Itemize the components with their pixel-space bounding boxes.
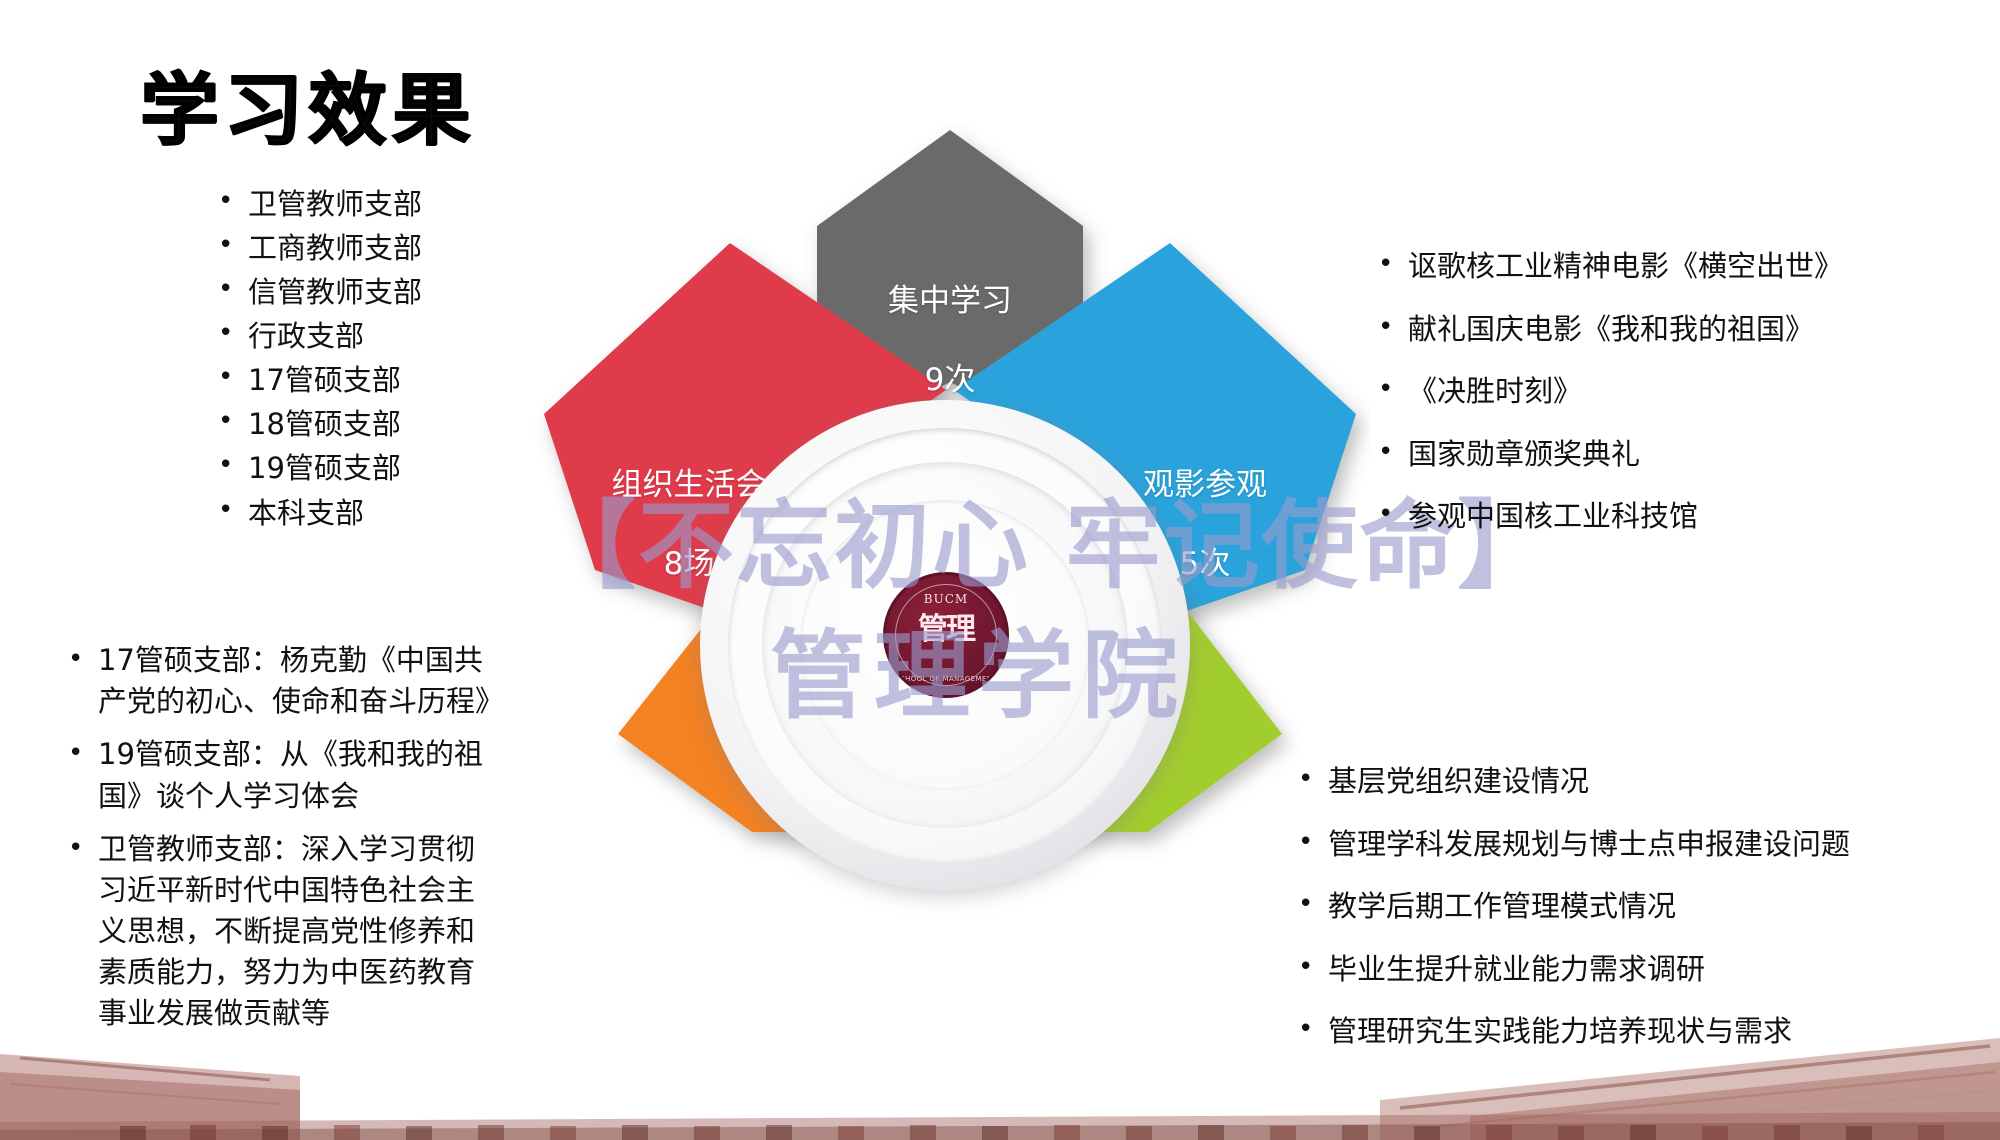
list-item: •17管硕支部：杨克勤《中国共产党的初心、使命和奋斗历程》: [60, 640, 490, 722]
list-item: •卫管教师支部: [210, 182, 640, 226]
bullet-icon: •: [210, 182, 248, 221]
bullet-icon: •: [1290, 1010, 1328, 1049]
bullet-icon: •: [1290, 823, 1328, 862]
bullet-icon: •: [210, 446, 248, 485]
list-item-label: 行政支部: [248, 314, 640, 358]
list-item-label: 19管硕支部：从《我和我的祖国》谈个人学习体会: [98, 734, 490, 816]
bullet-icon: •: [1370, 370, 1408, 409]
list-item-label: 参观中国核工业科技馆: [1408, 495, 1990, 539]
list-party-courses: •17管硕支部：杨克勤《中国共产党的初心、使命和奋斗历程》 •19管硕支部：从《…: [60, 640, 490, 1047]
list-item: •献礼国庆电影《我和我的祖国》: [1370, 308, 1990, 352]
list-item: •教学后期工作管理模式情况: [1290, 885, 2000, 929]
list-item: •讴歌核工业精神电影《横空出世》: [1370, 245, 1990, 289]
list-item-label: 信管教师支部: [248, 270, 640, 314]
list-item-label: 19管硕支部: [248, 446, 640, 490]
list-films-visits: •讴歌核工业精神电影《横空出世》 •献礼国庆电影《我和我的祖国》 •《决胜时刻》…: [1370, 245, 1990, 558]
bullet-icon: •: [210, 226, 248, 265]
list-item: •17管硕支部: [210, 358, 640, 402]
seal-center-text: 管理: [886, 615, 1006, 645]
bullet-icon: •: [60, 734, 98, 773]
bullet-icon: •: [210, 314, 248, 353]
list-item-label: 管理学科发展规划与博士点申报建设问题: [1328, 823, 2000, 867]
list-item: •行政支部: [210, 314, 640, 358]
bullet-icon: •: [1290, 760, 1328, 799]
list-item-label: 讴歌核工业精神电影《横空出世》: [1408, 245, 1990, 289]
list-item-label: 国家勋章颁奖典礼: [1408, 433, 1990, 477]
page-title: 学习效果: [140, 48, 476, 160]
list-item: •18管硕支部: [210, 402, 640, 446]
list-item: •工商教师支部: [210, 226, 640, 270]
list-item: •卫管教师支部：深入学习贯彻习近平新时代中国特色社会主义思想，不断提高党性修养和…: [60, 829, 490, 1035]
bullet-icon: •: [1370, 495, 1408, 534]
list-item-label: 17管硕支部：杨克勤《中国共产党的初心、使命和奋斗历程》: [98, 640, 490, 722]
list-item-label: 管理研究生实践能力培养现状与需求: [1328, 1010, 2000, 1054]
list-item-label: 基层党组织建设情况: [1328, 760, 2000, 804]
bullet-icon: •: [1370, 245, 1408, 284]
list-item: •19管硕支部: [210, 446, 640, 490]
list-item: •本科支部: [210, 491, 640, 535]
list-item-label: 卫管教师支部：深入学习贯彻习近平新时代中国特色社会主义思想，不断提高党性修养和素…: [98, 829, 490, 1035]
list-research-topics: •基层党组织建设情况 •管理学科发展规划与博士点申报建设问题 •教学后期工作管理…: [1290, 760, 2000, 1073]
bullet-icon: •: [60, 829, 98, 868]
seal-top-text: BUCM: [886, 592, 1006, 606]
list-item-label: 18管硕支部: [248, 402, 640, 446]
list-item-label: 献礼国庆电影《我和我的祖国》: [1408, 308, 1990, 352]
list-item-label: 教学后期工作管理模式情况: [1328, 885, 2000, 929]
seal-bottom-text: SCHOOL OF MANAGEMENT: [886, 675, 1006, 683]
bullet-icon: •: [1370, 308, 1408, 347]
list-item: •参观中国核工业科技馆: [1370, 495, 1990, 539]
center-plate: BUCM 管理 SCHOOL OF MANAGEMENT: [700, 400, 1190, 890]
list-item-label: 《决胜时刻》: [1408, 370, 1990, 414]
list-item-label: 工商教师支部: [248, 226, 640, 270]
list-item-label: 本科支部: [248, 491, 640, 535]
list-item: •管理学科发展规划与博士点申报建设问题: [1290, 823, 2000, 867]
list-party-branches: •卫管教师支部 •工商教师支部 •信管教师支部 •行政支部 •17管硕支部 •1…: [210, 182, 640, 535]
bullet-icon: •: [60, 640, 98, 679]
bullet-icon: •: [210, 358, 248, 397]
list-item: •《决胜时刻》: [1370, 370, 1990, 414]
list-item: •管理研究生实践能力培养现状与需求: [1290, 1010, 2000, 1054]
bucm-seal-icon: BUCM 管理 SCHOOL OF MANAGEMENT: [883, 572, 1009, 698]
bullet-icon: •: [210, 270, 248, 309]
bullet-icon: •: [210, 402, 248, 441]
list-item-label: 毕业生提升就业能力需求调研: [1328, 948, 2000, 992]
bullet-icon: •: [1370, 433, 1408, 472]
bullet-icon: •: [1290, 885, 1328, 924]
list-item: •毕业生提升就业能力需求调研: [1290, 948, 2000, 992]
bullet-icon: •: [1290, 948, 1328, 987]
list-item: •信管教师支部: [210, 270, 640, 314]
list-item: •基层党组织建设情况: [1290, 760, 2000, 804]
list-item: •19管硕支部：从《我和我的祖国》谈个人学习体会: [60, 734, 490, 816]
bullet-icon: •: [210, 491, 248, 530]
list-item-label: 17管硕支部: [248, 358, 640, 402]
list-item: •国家勋章颁奖典礼: [1370, 433, 1990, 477]
slide-canvas: 学习效果 集中学习 9次 观影参观 5: [0, 0, 2000, 1140]
list-item-label: 卫管教师支部: [248, 182, 640, 226]
